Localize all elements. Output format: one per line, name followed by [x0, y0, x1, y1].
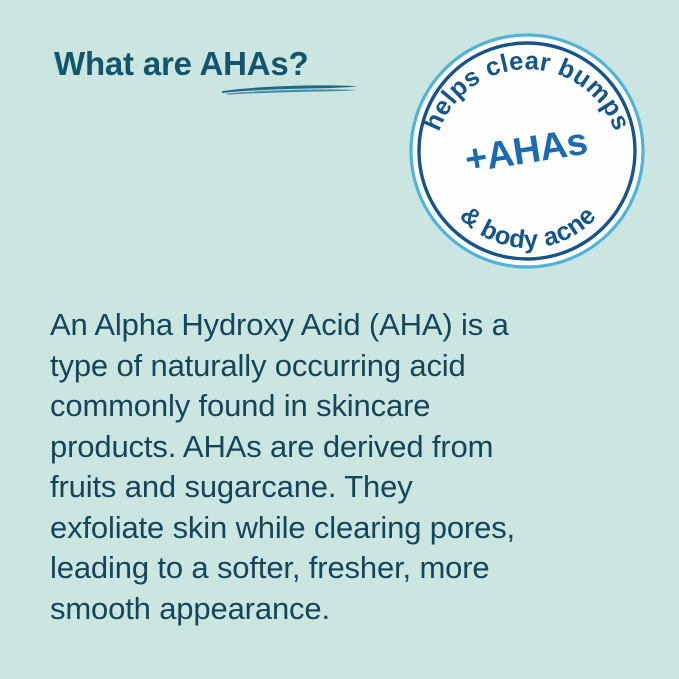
aha-info-card: What are AHAs? helps clear bumps	[0, 0, 679, 679]
aha-seal-badge: helps clear bumps & body acne +AHAs	[406, 30, 648, 272]
body-copy: An Alpha Hydroxy Acid (AHA) is a type of…	[50, 305, 610, 629]
brush-underline-icon	[220, 82, 360, 96]
heading-block: What are AHAs?	[54, 44, 384, 104]
page-title: What are AHAs?	[54, 44, 384, 84]
body-paragraph: An Alpha Hydroxy Acid (AHA) is a type of…	[50, 305, 610, 629]
